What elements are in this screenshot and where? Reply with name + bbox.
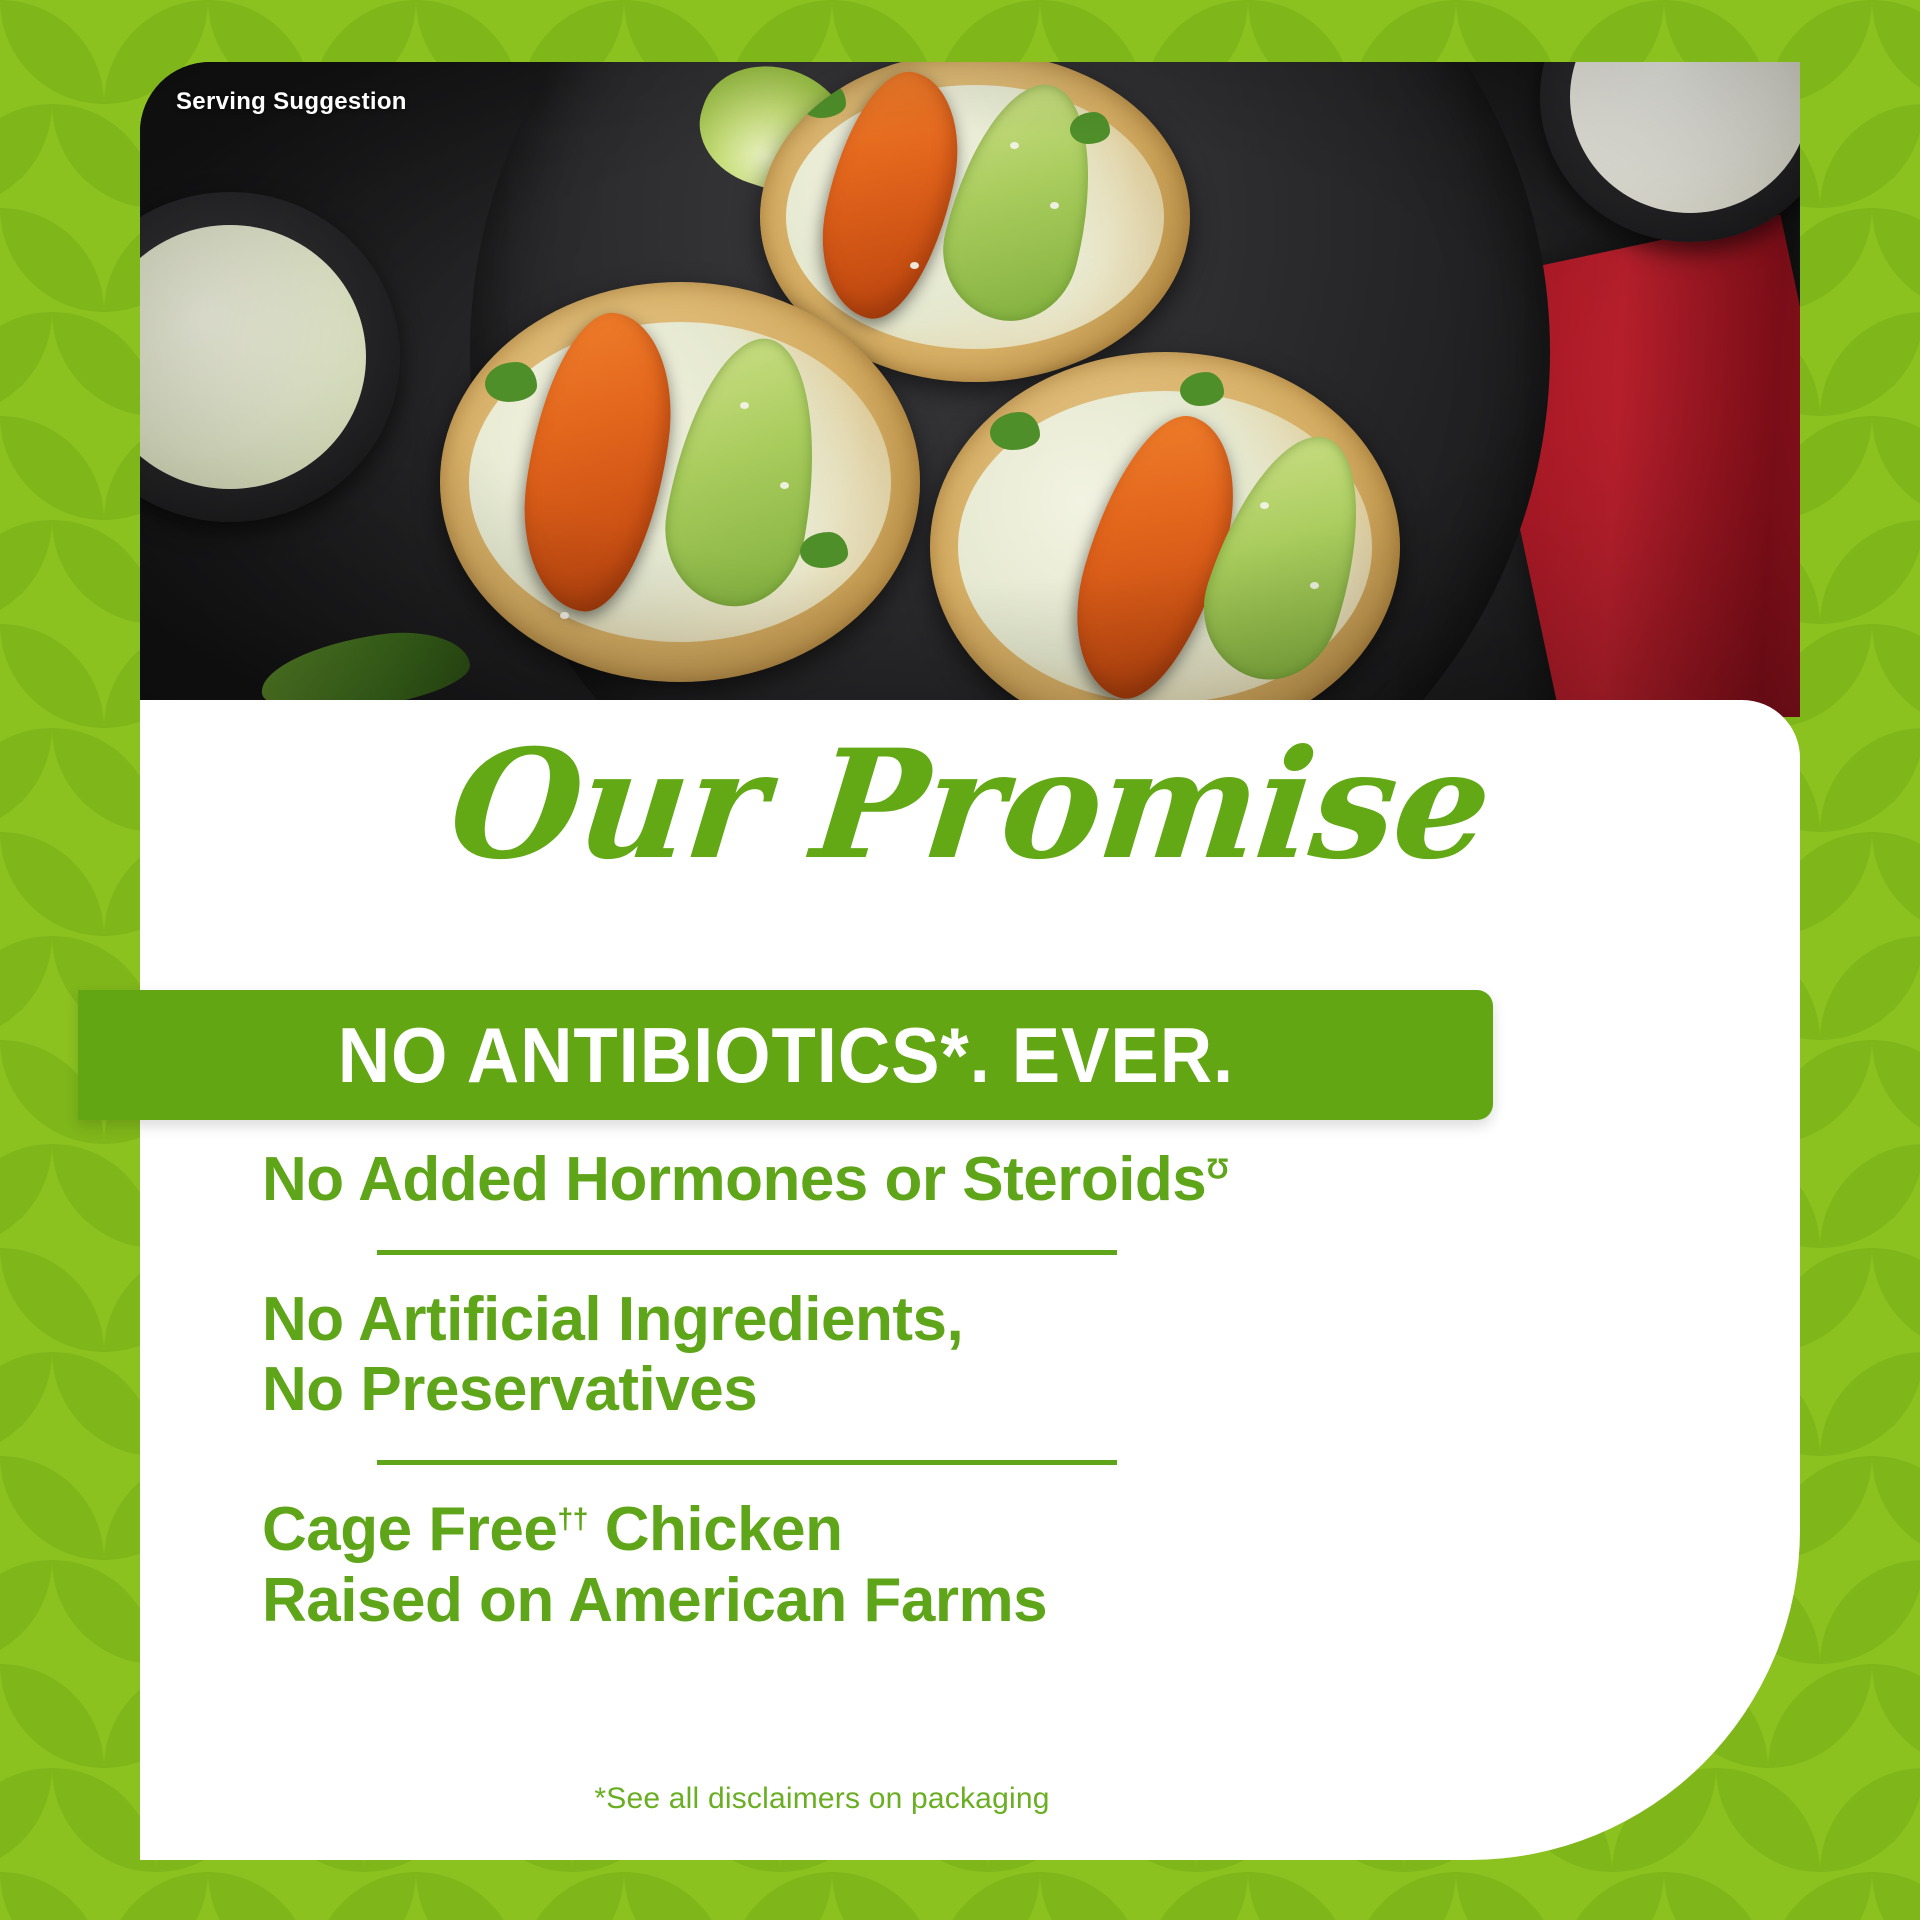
leaf-shape (1820, 104, 1920, 208)
leaf-shape (1820, 312, 1920, 416)
leaf-shape (832, 1872, 936, 1920)
leaf-shape (1820, 520, 1920, 624)
claim-divider-2 (377, 1460, 1117, 1465)
leaf-shape (0, 624, 104, 728)
claim-cage-free-superscript: †† (557, 1503, 588, 1535)
promise-poster: Serving Suggestion Our Promise NO ANTIBI… (0, 0, 1920, 1920)
leaf-shape (312, 1872, 416, 1920)
leaf-shape (0, 728, 52, 832)
claim-artificial-line1: No Artificial Ingredients, (262, 1285, 1382, 1356)
photo-backdrop (140, 62, 1800, 717)
claims-list: No Added Hormones or SteroidsƱ No Artifi… (262, 1145, 1382, 1636)
leaf-shape (1872, 624, 1920, 728)
leaf-shape (0, 1664, 104, 1768)
leaf-shape (1456, 1872, 1560, 1920)
leaf-shape (1820, 1560, 1920, 1664)
leaf-shape (1820, 1352, 1920, 1456)
leaf-shape (0, 312, 52, 416)
leaf-shape (1872, 1040, 1920, 1144)
leaf-shape (1820, 728, 1920, 832)
leaf-shape (1040, 1872, 1144, 1920)
leaf-shape (0, 104, 52, 208)
leaf-shape (1820, 1144, 1920, 1248)
leaf-shape (416, 1872, 520, 1920)
leaf-shape (728, 1872, 832, 1920)
leaf-shape (104, 1872, 208, 1920)
leaf-shape (1144, 1872, 1248, 1920)
leaf-shape (0, 936, 52, 1040)
claim-artificial: No Artificial Ingredients, No Preservati… (262, 1285, 1382, 1426)
claim-hormones: No Added Hormones or SteroidsƱ (262, 1145, 1382, 1216)
claim-cage-free-line2: Raised on American Farms (262, 1566, 1382, 1637)
leaf-shape (1872, 1664, 1920, 1768)
claim-hormones-text: No Added Hormones or Steroids (262, 1145, 1206, 1214)
leaf-shape (0, 1560, 52, 1664)
claim-hormones-superscript: Ʊ (1206, 1153, 1228, 1185)
leaf-shape (0, 1352, 52, 1456)
leaf-shape (0, 208, 104, 312)
leaf-shape (0, 520, 52, 624)
leaf-shape (1716, 1768, 1820, 1872)
leaf-shape (1872, 1248, 1920, 1352)
leaf-shape (1248, 1872, 1352, 1920)
serving-suggestion-label: Serving Suggestion (176, 88, 407, 116)
leaf-shape (0, 416, 104, 520)
leaf-shape (624, 1872, 728, 1920)
claim-divider-1 (377, 1250, 1117, 1255)
food-photo: Serving Suggestion (140, 62, 1800, 717)
leaf-shape (0, 1248, 104, 1352)
leaf-shape (1768, 1872, 1872, 1920)
leaf-shape (1872, 832, 1920, 936)
leaf-shape (1664, 1872, 1768, 1920)
leaf-shape (0, 1144, 52, 1248)
claim-cage-free-text-after: Chicken (588, 1495, 842, 1564)
leaf-shape (0, 1456, 104, 1560)
leaf-shape (208, 1872, 312, 1920)
leaf-shape (1768, 1664, 1872, 1768)
leaf-shape (1872, 416, 1920, 520)
claim-cage-free-text: Cage Free (262, 1495, 557, 1564)
claim-cage-free-line1: Cage Free†† Chicken (262, 1495, 1382, 1566)
leaf-shape (0, 1768, 52, 1872)
leaf-shape (1872, 0, 1920, 104)
claim-artificial-line2: No Preservatives (262, 1355, 1382, 1426)
leaf-shape (1872, 208, 1920, 312)
leaf-shape (0, 832, 104, 936)
no-antibiotics-banner: NO ANTIBIOTICS*. EVER. (78, 990, 1493, 1120)
leaf-shape (520, 1872, 624, 1920)
leaf-shape (1820, 936, 1920, 1040)
page-title: Our Promise (132, 730, 1808, 880)
leaf-shape (1352, 1872, 1456, 1920)
leaf-shape (1560, 1872, 1664, 1920)
leaf-shape (1820, 1768, 1920, 1872)
photo-vignette (140, 62, 1800, 717)
leaf-shape (1872, 1872, 1920, 1920)
leaf-shape (0, 1872, 104, 1920)
claim-cage-free: Cage Free†† Chicken Raised on American F… (262, 1495, 1382, 1636)
leaf-shape (1872, 1456, 1920, 1560)
banner-text: NO ANTIBIOTICS*. EVER. (337, 1010, 1233, 1101)
disclaimer-text: *See all disclaimers on packaging (262, 1782, 1382, 1816)
leaf-shape (0, 0, 104, 104)
leaf-shape (936, 1872, 1040, 1920)
